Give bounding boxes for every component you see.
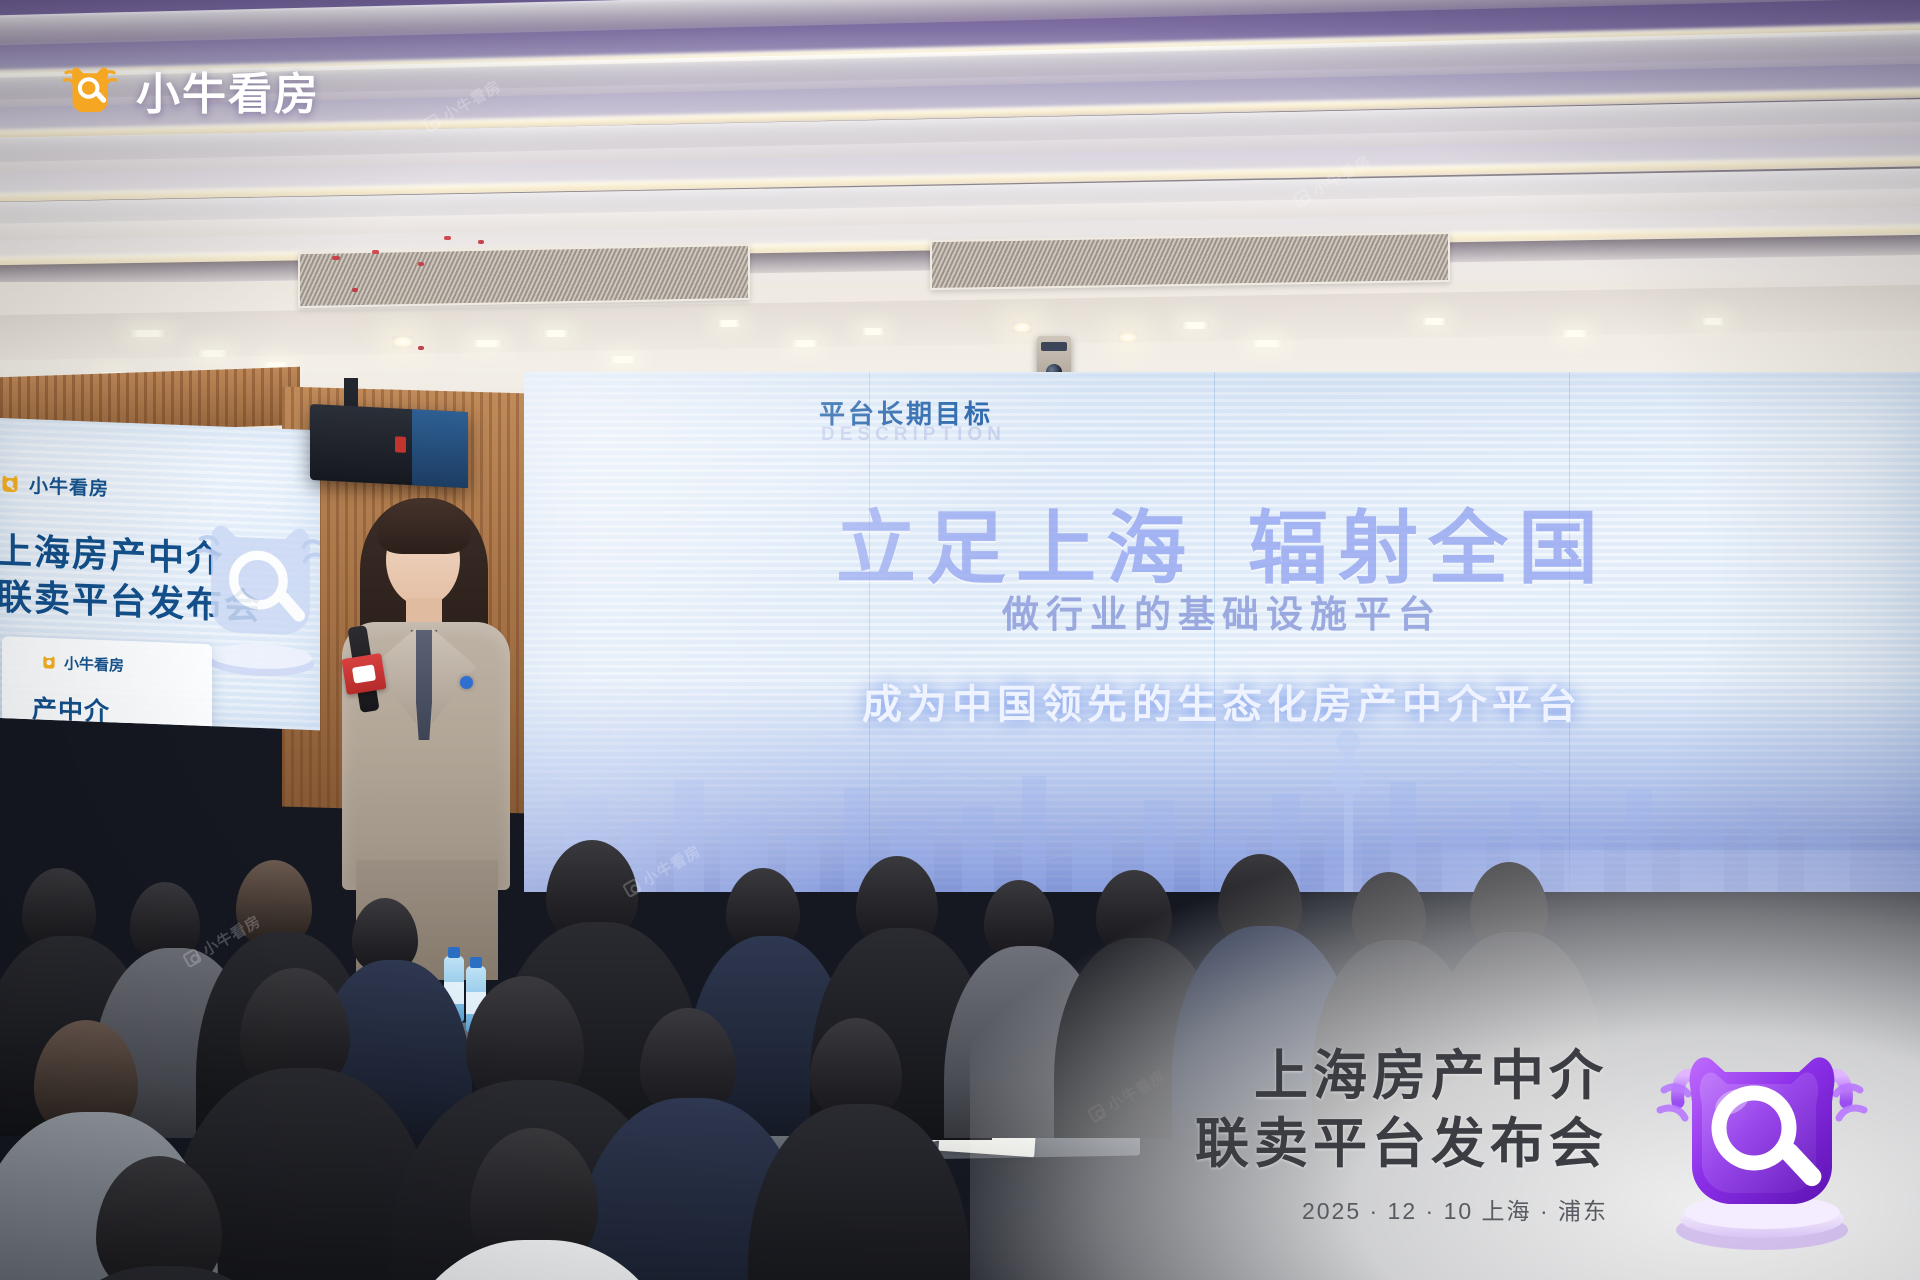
side-card-logo-text: 小牛看房 — [64, 653, 124, 676]
skyline-svg — [524, 702, 1920, 892]
brand-event-meta: 2025 · 12 · 10 上海 · 浦东 — [1195, 1192, 1608, 1226]
bull-mascot-icon — [0, 471, 22, 496]
slide-tertiary-text: 成为中国领先的生态化房产中介平台 — [524, 672, 1920, 730]
side-card-title: 产中介 — [32, 689, 110, 728]
paper-document — [505, 1106, 581, 1159]
watermark-text: 小牛看房 — [1104, 1065, 1170, 1115]
brand-overlay: 上海房产中介 联卖平台发布会 2025 · 12 · 10 上海 · 浦东 — [1195, 1016, 1884, 1256]
watermark: 小牛看房 — [1085, 1065, 1169, 1126]
conference-photo-scene: 小牛看房 上海房产中介 联卖平台发布会 小牛看房 产中介 — [0, 0, 1920, 1280]
mic-flag-logo — [341, 653, 386, 695]
slide-headline-right: 辐射全国 — [1248, 504, 1608, 593]
corner-logo: 小牛看房 — [58, 58, 320, 122]
bull-mascot-icon — [58, 58, 122, 122]
brand-line-1: 上海房产中介 — [1195, 1043, 1608, 1111]
ceiling-air-vent — [930, 232, 1450, 290]
slide-headline-left: 立足上海 — [836, 504, 1196, 593]
bull-mascot-3d-icon — [1634, 1016, 1884, 1256]
slide-headline: 立足上海辐射全国 — [524, 484, 1920, 600]
slide-kicker-subtitle: DESCRIPTION — [821, 424, 1006, 446]
paper-document — [938, 1101, 1037, 1158]
main-led-screen: 平台长期目标 DESCRIPTION 立足上海辐射全国 做行业的基础设施平台 成… — [524, 372, 1920, 892]
watermark-icon — [182, 948, 202, 968]
bull-mascot-icon — [40, 653, 58, 672]
lapel-badge — [460, 676, 473, 689]
brand-overlay-text: 上海房产中介 联卖平台发布会 2025 · 12 · 10 上海 · 浦东 — [1195, 1043, 1608, 1256]
watermark-text: 小牛看房 — [199, 910, 265, 960]
paper-document — [859, 1081, 970, 1151]
corner-logo-text: 小牛看房 — [136, 58, 320, 122]
side-screen-logo: 小牛看房 — [0, 470, 109, 501]
watermark-icon — [1087, 1103, 1107, 1123]
watermark: 小牛看房 — [180, 910, 264, 971]
ceiling-air-vent — [298, 244, 750, 308]
brand-line-2: 联卖平台发布会 — [1195, 1111, 1608, 1179]
side-screen-logo-text: 小牛看房 — [29, 471, 109, 501]
slide-subtitle: 做行业的基础设施平台 — [524, 584, 1920, 638]
side-card-logo: 小牛看房 — [40, 652, 124, 676]
female-presenter — [320, 480, 540, 900]
brand-mascot-3d — [1634, 1016, 1884, 1256]
side-screen-card: 小牛看房 产中介 — [2, 636, 212, 730]
pa-speaker-icon — [310, 404, 468, 488]
side-led-screen: 小牛看房 上海房产中介 联卖平台发布会 小牛看房 产中介 — [0, 418, 320, 731]
